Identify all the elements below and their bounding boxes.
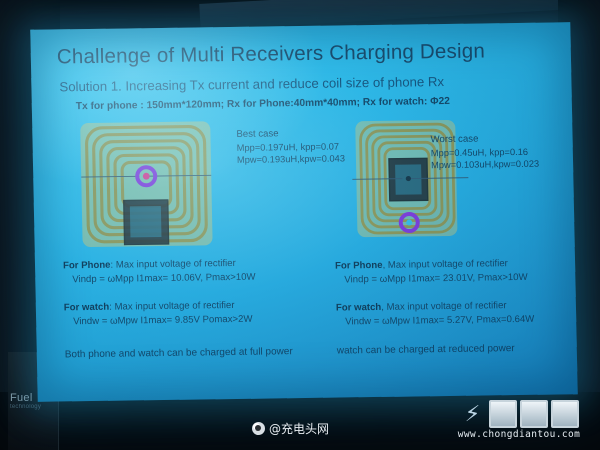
left-case-line2: Mpw=0.193uH,kpw=0.043 (237, 152, 345, 166)
podium-label: Fuel (10, 392, 33, 404)
coil-dimensions-line: Tx for phone : 150mm*120mm; Rx for Phone… (76, 96, 450, 112)
lightning-bolt-icon: ⚡ (460, 401, 486, 427)
logo-glyphs: ⚡ (446, 398, 592, 430)
site-logo-watermark: ⚡ www.chongdiantou.com (446, 398, 592, 444)
right-watch-formula: Vindw = ωMpw I1max= 5.27V, Pmax=0.64W (336, 313, 534, 330)
right-phone-formula-block: For Phone, Max input voltage of rectifie… (335, 257, 528, 288)
left-conclusion: Both phone and watch can be charged at f… (65, 346, 293, 360)
right-conclusion: watch can be charged at reduced power (337, 343, 515, 356)
left-coil-diagram (76, 119, 229, 249)
slide-subtitle-solution: Solution 1. Increasing Tx current and re… (59, 74, 444, 94)
presentation-slide: Challenge of Multi Receivers Charging De… (30, 22, 577, 401)
logo-url: www.chongdiantou.com (446, 429, 592, 440)
slide-title: Challenge of Multi Receivers Charging De… (57, 39, 486, 69)
left-case-annotation: Best case Mpp=0.197uH, kpp=0.07 Mpw=0.19… (236, 127, 345, 166)
left-phone-formula-block: For Phone: Max input voltage of rectifie… (63, 257, 256, 288)
projection-screen: Challenge of Multi Receivers Charging De… (30, 22, 577, 401)
right-watch-formula-block: For watch, Max input voltage of rectifie… (336, 299, 535, 330)
right-case-annotation: Worst case Mpp=0.45uH, kpp=0.16 Mpw=0.10… (430, 133, 539, 172)
left-watch-formula: Vindw = ωMpw I1max= 9.85V Pomax>2W (64, 313, 253, 330)
podium-sublabel: technology (10, 404, 41, 410)
logo-block-2 (520, 400, 548, 428)
left-watch-formula-block: For watch: Max input voltage of rectifie… (64, 299, 253, 330)
logo-block-1 (489, 400, 517, 428)
weibo-icon (252, 422, 265, 435)
left-coil-svg (76, 119, 229, 249)
right-phone-formula: Vindp = ωMpp I1max= 23.01V, Pmax>10W (335, 271, 528, 288)
left-phone-formula: Vindp = ωMpp I1max= 10.06V, Pmax>10W (63, 271, 256, 288)
screenshot-root: Fuel technology Challenge of Multi Recei… (0, 0, 600, 450)
weibo-watermark: @充电头网 (252, 420, 329, 437)
weibo-handle: @充电头网 (269, 420, 329, 437)
right-case-line2: Mpw=0.103uH,kpw=0.023 (431, 158, 539, 172)
logo-block-3 (551, 400, 579, 428)
